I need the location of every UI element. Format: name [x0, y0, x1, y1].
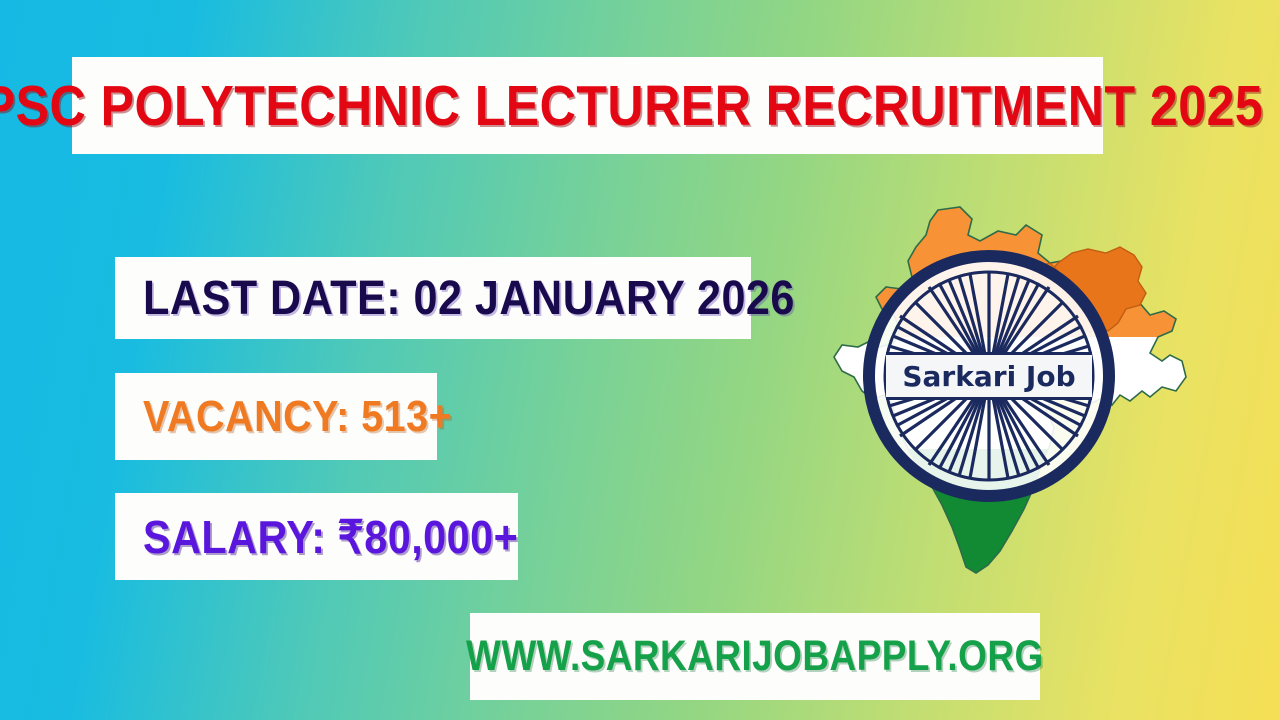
vacancy-text: VACANCY: 513+ — [143, 392, 452, 442]
sarkari-job-logo: Sarkari Job — [820, 205, 1190, 580]
salary-plate: SALARY: ₹80,000+ — [115, 493, 518, 580]
logo-brand-band: Sarkari Job — [886, 352, 1092, 400]
title-plate: UPPSC POLYTECHNIC LECTURER RECRUITMENT 2… — [72, 57, 1103, 154]
website-url-text: WWW.SARKARIJOBAPPLY.ORG — [466, 632, 1044, 681]
last-date-text: LAST DATE: 02 JANUARY 2026 — [143, 271, 795, 326]
poster-canvas: UPPSC POLYTECHNIC LECTURER RECRUITMENT 2… — [0, 0, 1280, 720]
salary-text: SALARY: ₹80,000+ — [143, 510, 518, 564]
last-date-plate: LAST DATE: 02 JANUARY 2026 — [115, 257, 751, 339]
logo-brand-text: Sarkari Job — [902, 360, 1075, 393]
website-plate[interactable]: WWW.SARKARIJOBAPPLY.ORG — [470, 613, 1040, 700]
vacancy-plate: VACANCY: 513+ — [115, 373, 437, 460]
page-title: UPPSC POLYTECHNIC LECTURER RECRUITMENT 2… — [0, 73, 1264, 139]
